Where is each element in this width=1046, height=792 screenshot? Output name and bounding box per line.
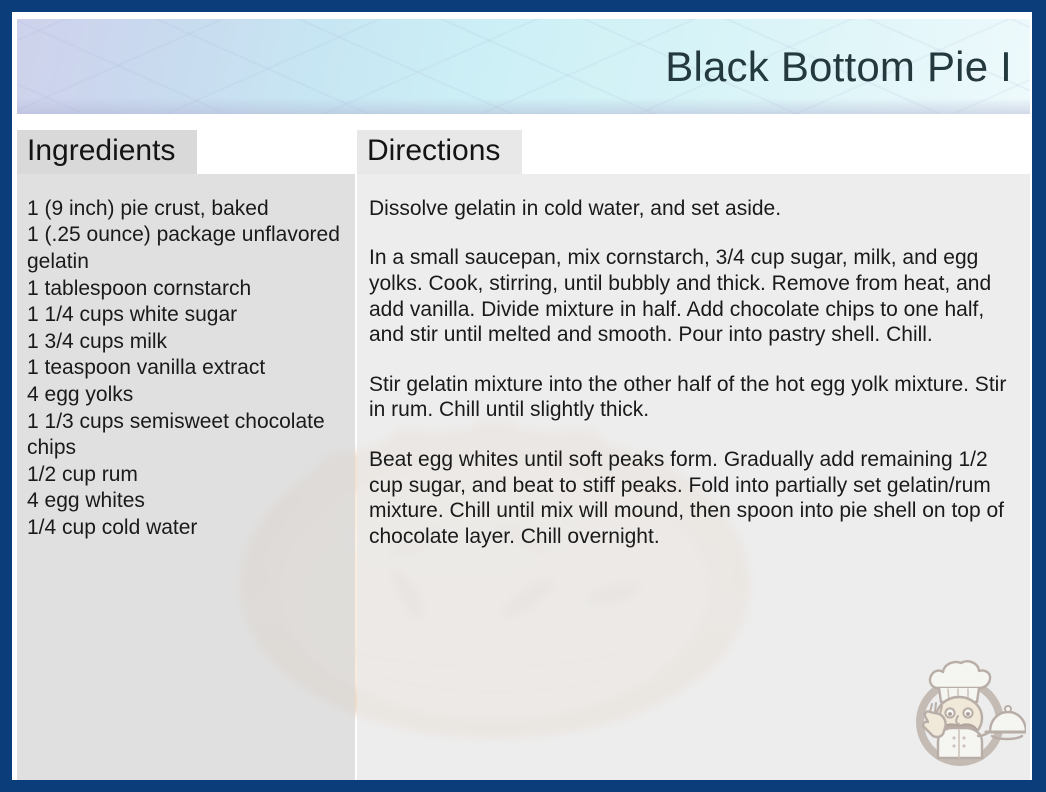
list-item: 1 teaspoon vanilla extract (27, 355, 341, 382)
list-item: 1 1/4 cups white sugar (27, 302, 341, 329)
header-banner: Black Bottom Pie I (17, 19, 1030, 114)
page-title: Black Bottom Pie I (665, 43, 1012, 91)
list-item: 1 (.25 ounce) package unflavored gelatin (27, 222, 341, 275)
directions-panel: Dissolve gelatin in cold water, and set … (357, 174, 1030, 780)
recipe-card-inner: Black Bottom Pie I (12, 12, 1032, 780)
list-item: 1 (9 inch) pie crust, baked (27, 196, 341, 223)
directions-heading: Directions (357, 130, 522, 174)
ingredients-column: Ingredients 1 (9 inch) pie crust, baked … (17, 130, 355, 780)
recipe-card-frame: Black Bottom Pie I (0, 0, 1046, 792)
direction-step-list: Dissolve gelatin in cold water, and set … (369, 196, 1012, 550)
directions-column: Directions Dissolve gelatin in cold wate… (357, 130, 1030, 780)
list-item: 1 1/3 cups semisweet chocolate chips (27, 409, 341, 462)
list-item: 1 tablespoon cornstarch (27, 276, 341, 303)
list-item: 4 egg whites (27, 488, 341, 515)
direction-step: Dissolve gelatin in cold water, and set … (369, 196, 1012, 222)
list-item: 1/2 cup rum (27, 462, 341, 489)
list-item: 4 egg yolks (27, 382, 341, 409)
list-item: 1/4 cup cold water (27, 515, 341, 542)
list-item: 1 3/4 cups milk (27, 329, 341, 356)
ingredients-heading: Ingredients (17, 130, 197, 174)
direction-step: Beat egg whites until soft peaks form. G… (369, 447, 1012, 549)
direction-step: Stir gelatin mixture into the other half… (369, 372, 1012, 423)
ingredients-panel: 1 (9 inch) pie crust, baked 1 (.25 ounce… (17, 174, 355, 780)
direction-step: In a small saucepan, mix cornstarch, 3/4… (369, 245, 1012, 347)
ingredient-list: 1 (9 inch) pie crust, baked 1 (.25 ounce… (27, 196, 341, 542)
